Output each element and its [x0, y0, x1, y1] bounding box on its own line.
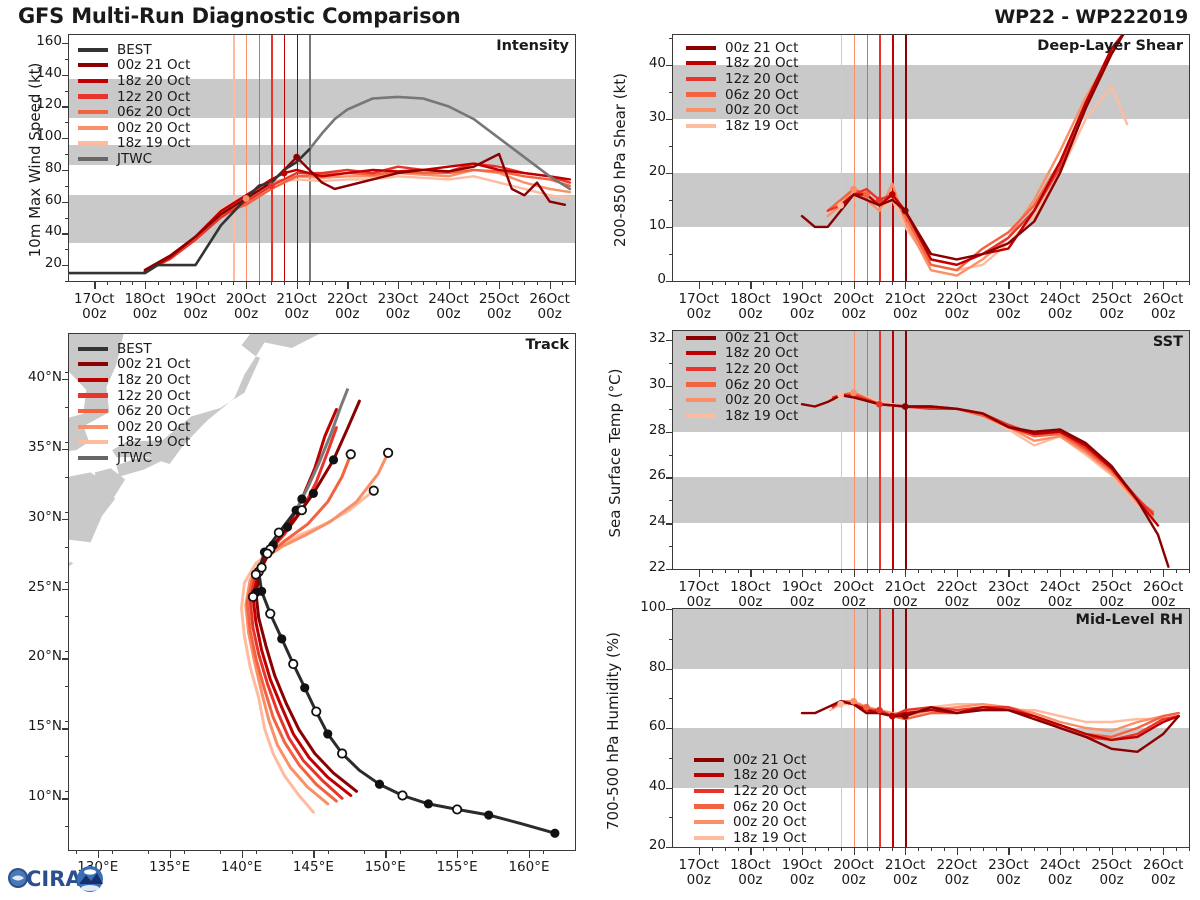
panel-intensity-title: Intensity [496, 38, 569, 54]
legend-color-swatch [78, 440, 108, 444]
legend-item-label: 06z 20 Oct [117, 404, 190, 418]
init-marker-dot [837, 701, 844, 708]
legend-color-swatch [694, 820, 724, 824]
legend-color-swatch [78, 393, 108, 397]
init-marker-dot [850, 186, 857, 193]
init-marker-dot [902, 713, 909, 720]
legend-item: BEST [78, 42, 190, 58]
diagnostic-dashboard: GFS Multi-Run Diagnostic Comparison WP22… [0, 0, 1200, 900]
legend-color-swatch [686, 382, 716, 386]
legend-item-label: 12z 20 Oct [117, 389, 190, 403]
legend-item-label: BEST [117, 43, 152, 57]
legend-rh: 00z 21 Oct18z 20 Oct12z 20 Oct06z 20 Oct… [694, 752, 806, 846]
legend-color-swatch [78, 347, 108, 351]
legend-item-label: 00z 21 Oct [117, 357, 190, 371]
legend-color-swatch [686, 351, 716, 355]
legend-item: 12z 20 Oct [686, 71, 798, 87]
legend-color-swatch [694, 758, 724, 762]
series-line [833, 393, 1153, 517]
legend-sst: 00z 21 Oct18z 20 Oct12z 20 Oct06z 20 Oct… [686, 330, 798, 424]
panel-shear-title: Deep-Layer Shear [1037, 38, 1183, 54]
panel-track-title: Track [526, 337, 569, 353]
legend-item: 12z 20 Oct [694, 783, 806, 799]
init-marker-dot [850, 389, 857, 396]
series-group-rh [802, 701, 1179, 752]
legend-item-label: 00z 20 Oct [725, 103, 798, 117]
legend-item-label: 06z 20 Oct [725, 88, 798, 102]
legend-item: 00z 21 Oct [78, 357, 190, 373]
series-line [802, 395, 1168, 567]
init-marker-dot [863, 191, 870, 198]
legend-color-swatch [78, 79, 108, 83]
legend-item: 18z 20 Oct [686, 346, 798, 362]
legend-color-swatch [78, 362, 108, 366]
series-group-shear [802, 32, 1127, 275]
panel-rh-title: Mid-Level RH [1076, 612, 1183, 628]
series-group-sst [802, 393, 1168, 567]
legend-item-label: 06z 20 Oct [725, 378, 798, 392]
legend-item: 00z 21 Oct [686, 330, 798, 346]
init-marker-dot [850, 698, 857, 705]
legend-item-label: 06z 20 Oct [117, 105, 190, 119]
cira-logo-text: CIRA [26, 867, 82, 891]
legend-color-swatch [694, 789, 724, 793]
legend-item: 18z 19 Oct [686, 408, 798, 424]
legend-color-swatch [78, 141, 108, 145]
series-line [828, 32, 1125, 264]
legend-item: BEST [78, 341, 190, 357]
legend-item: 06z 20 Oct [694, 799, 806, 815]
legend-item-label: 18z 19 Oct [117, 435, 190, 449]
panel-sst-title: SST [1153, 334, 1183, 350]
series-line [69, 149, 309, 273]
legend-item: 00z 20 Oct [686, 392, 798, 408]
legend-item-label: 12z 20 Oct [725, 72, 798, 86]
legend-color-swatch [686, 398, 716, 402]
init-marker-dot [889, 191, 896, 198]
legend-item: 06z 20 Oct [686, 87, 798, 103]
legend-item: 12z 20 Oct [78, 388, 190, 404]
legend-item-label: 18z 19 Oct [733, 831, 806, 845]
legend-item: 06z 20 Oct [78, 403, 190, 419]
init-marker-dot [837, 392, 844, 399]
legend-color-swatch [78, 378, 108, 382]
cira-logo: CIRA [6, 858, 106, 896]
legend-color-swatch [78, 456, 108, 460]
init-marker-dot [902, 207, 909, 214]
legend-color-swatch [694, 836, 724, 840]
init-marker-dot [876, 401, 883, 408]
legend-item-label: 12z 20 Oct [725, 362, 798, 376]
legend-item-label: 00z 20 Oct [733, 815, 806, 829]
legend-item: 00z 21 Oct [686, 40, 798, 56]
legend-item-label: 00z 21 Oct [117, 58, 190, 72]
legend-item-label: 18z 19 Oct [117, 136, 190, 150]
series-line [841, 32, 1125, 264]
legend-color-swatch [694, 773, 724, 777]
legend-item-label: 18z 19 Oct [725, 409, 798, 423]
legend-item-label: 12z 20 Oct [733, 784, 806, 798]
legend-color-swatch [686, 367, 716, 371]
legend-item-label: 06z 20 Oct [733, 800, 806, 814]
init-marker-dot [281, 170, 288, 177]
legend-color-swatch [686, 77, 716, 81]
legend-item: 00z 20 Oct [78, 419, 190, 435]
legend-item: JTWC [78, 151, 190, 167]
init-marker-dot [293, 154, 300, 161]
legend-color-swatch [78, 126, 108, 130]
series-line [833, 395, 1153, 514]
legend-color-swatch [78, 110, 108, 114]
legend-item: 18z 19 Oct [78, 136, 190, 152]
legend-item-label: 12z 20 Oct [117, 90, 190, 104]
init-marker-dot [902, 403, 909, 410]
legend-color-swatch [694, 804, 724, 808]
init-marker-dot [876, 707, 883, 714]
legend-item-label: 00z 21 Oct [733, 753, 806, 767]
legend-item-label: 00z 21 Oct [725, 41, 798, 55]
legend-item-label: 18z 20 Oct [117, 373, 190, 387]
legend-color-swatch [686, 61, 716, 65]
legend-item: JTWC [78, 450, 190, 466]
init-marker-dot [876, 197, 883, 204]
series-line [841, 395, 1158, 525]
legend-item: 18z 20 Oct [78, 372, 190, 388]
legend-color-swatch [686, 108, 716, 112]
legend-color-swatch [686, 124, 716, 128]
legend-item: 06z 20 Oct [78, 104, 190, 120]
legend-color-swatch [78, 425, 108, 429]
legend-item-label: 18z 20 Oct [725, 56, 798, 70]
init-marker-dot [889, 713, 896, 720]
legend-color-swatch [686, 414, 716, 418]
series-line [828, 32, 1125, 275]
legend-color-swatch [686, 46, 716, 50]
legend-item: 00z 21 Oct [78, 58, 190, 74]
init-marker-dot [837, 202, 844, 209]
series-line [828, 32, 1125, 270]
series-line [833, 393, 1153, 512]
legend-item: 00z 20 Oct [694, 814, 806, 830]
legend-item-label: BEST [117, 342, 152, 356]
legend-item: 00z 21 Oct [694, 752, 806, 768]
legend-item: 18z 20 Oct [694, 768, 806, 784]
legend-intensity: BEST00z 21 Oct18z 20 Oct12z 20 Oct06z 20… [78, 42, 190, 167]
legend-color-swatch [78, 94, 108, 98]
legend-item-label: 18z 20 Oct [733, 768, 806, 782]
legend-item: 18z 19 Oct [686, 118, 798, 134]
legend-item-label: JTWC [117, 152, 152, 166]
legend-item: 12z 20 Oct [686, 361, 798, 377]
legend-item: 18z 20 Oct [78, 73, 190, 89]
legend-item-label: 00z 20 Oct [117, 420, 190, 434]
legend-color-swatch [78, 157, 108, 161]
legend-color-swatch [78, 409, 108, 413]
init-marker-dot [863, 704, 870, 711]
legend-item: 00z 20 Oct [78, 120, 190, 136]
init-marker-dot [268, 182, 275, 189]
legend-track: BEST00z 21 Oct18z 20 Oct12z 20 Oct06z 20… [78, 341, 190, 466]
legend-shear: 00z 21 Oct18z 20 Oct12z 20 Oct06z 20 Oct… [686, 40, 798, 134]
legend-item: 06z 20 Oct [686, 377, 798, 393]
legend-item-label: JTWC [117, 451, 152, 465]
legend-item: 12z 20 Oct [78, 89, 190, 105]
legend-item: 00z 20 Oct [686, 102, 798, 118]
legend-color-swatch [686, 92, 716, 96]
legend-item-label: 18z 20 Oct [725, 346, 798, 360]
legend-item: 18z 19 Oct [694, 830, 806, 846]
legend-item: 18z 20 Oct [686, 56, 798, 72]
legend-color-swatch [686, 336, 716, 340]
series-line [830, 393, 1150, 510]
legend-color-swatch [78, 48, 108, 52]
legend-color-swatch [78, 63, 108, 67]
legend-item-label: 18z 20 Oct [117, 74, 190, 88]
legend-item-label: 00z 20 Oct [117, 121, 190, 135]
legend-item-label: 18z 19 Oct [725, 119, 798, 133]
series-line [833, 701, 1179, 731]
series-line [802, 32, 1125, 259]
init-marker-dot [243, 195, 250, 202]
legend-item-label: 00z 20 Oct [725, 393, 798, 407]
legend-item-label: 00z 21 Oct [725, 331, 798, 345]
legend-item: 18z 19 Oct [78, 435, 190, 451]
